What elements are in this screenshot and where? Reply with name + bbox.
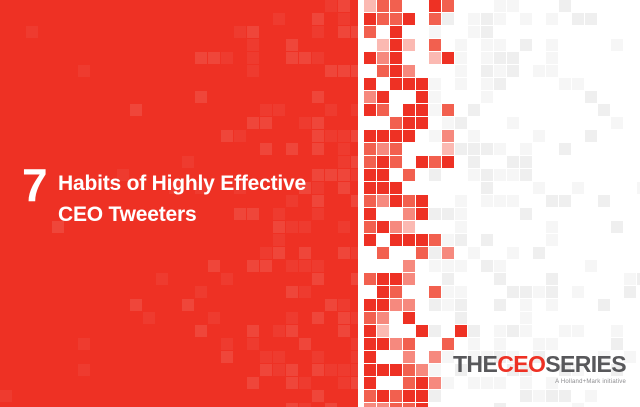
headline-line-1: Habits of Highly Effective xyxy=(58,168,367,199)
logo-series: SERIES xyxy=(545,351,626,377)
headline-title: Habits of Highly Effective CEO Tweeters xyxy=(58,168,367,230)
headline-number: 7 xyxy=(22,162,47,208)
headline-block: 7 Habits of Highly Effective CEO Tweeter… xyxy=(22,168,367,230)
logo-ceo: CEO xyxy=(497,351,545,377)
logo-wordmark: THECEOSERIES xyxy=(453,352,626,377)
slide-canvas: 7 Habits of Highly Effective CEO Tweeter… xyxy=(0,0,640,407)
logo-the: THE xyxy=(453,351,497,377)
logo-tagline: A Holland+Mark initiative xyxy=(453,379,626,385)
headline-line-2: CEO Tweeters xyxy=(58,199,367,230)
logo: THECEOSERIES A Holland+Mark initiative xyxy=(453,352,626,385)
